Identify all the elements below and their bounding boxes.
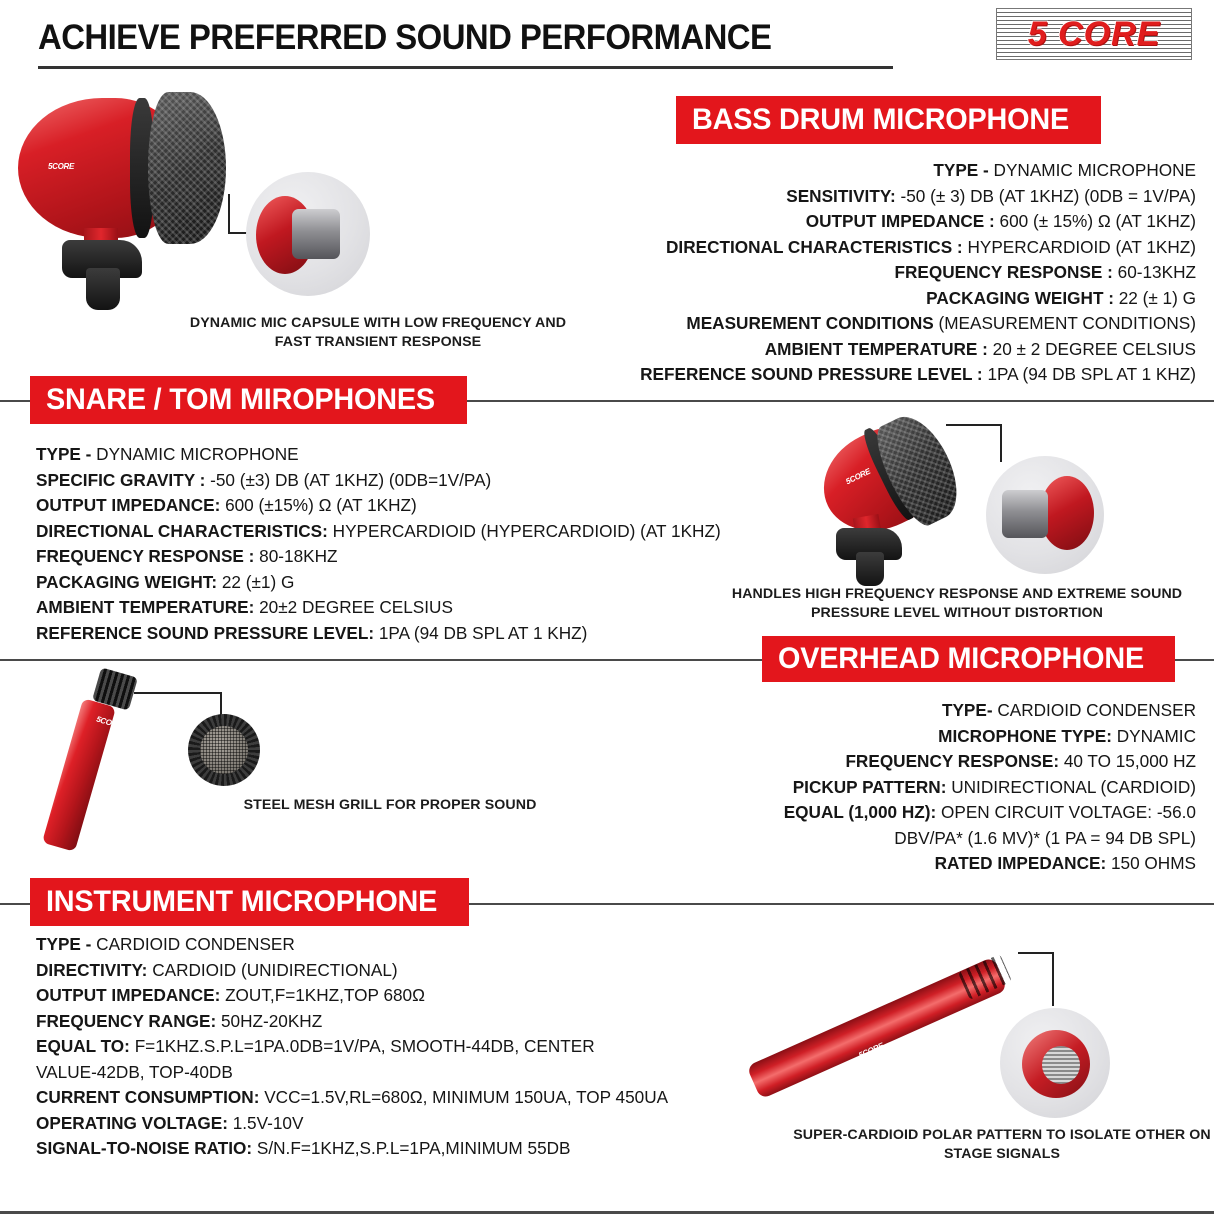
spec-value: HYPERCARDIOID (HYPERCARDIOID) (AT 1KHZ) [333,521,721,541]
spec-label: TYPE - [36,444,96,464]
spec-value: 22 (±1) G [222,572,294,592]
spec-label: PACKAGING WEIGHT: [36,572,222,592]
spec-label: DIRECTIONAL CHARACTERISTICS : [666,237,967,257]
spec-label: FREQUENCY RESPONSE : [894,262,1117,282]
spec-row: DBV/PA* (1.6 MV)* (1 PA = 94 DB SPL) [556,826,1196,852]
spec-label: EQUAL (1,000 HZ): [784,802,941,822]
spec-label: PACKAGING WEIGHT : [926,288,1119,308]
spec-row: TYPE - DYNAMIC MICROPHONE [456,158,1196,184]
spec-row: OUTPUT IMPEDANCE: 600 (±15%) Ω (AT 1KHZ) [36,493,776,519]
spec-row: REFERENCE SOUND PRESSURE LEVEL: 1PA (94 … [36,621,776,647]
spec-value: CARDIOID CONDENSER [96,934,295,954]
capsule-ring [1040,476,1094,550]
spec-value: 60-13KHZ [1118,262,1196,282]
capsule-core [292,209,340,259]
spec-value: 600 (± 15%) Ω (AT 1KHZ) [1000,211,1196,231]
banner-label: OVERHEAD MICROPHONE [778,642,1144,676]
caption-instrument: SUPER-CARDIOID POLAR PATTERN TO ISOLATE … [790,1126,1214,1164]
spec-value: 600 (±15%) Ω (AT 1KHZ) [225,495,417,515]
spec-row: SPECIFIC GRAVITY : -50 (±3) DB (AT 1KHZ)… [36,468,776,494]
spec-label: MICROPHONE TYPE: [938,726,1117,746]
spec-value: 50HZ-20KHZ [221,1011,322,1031]
caption-overhead: STEEL MESH GRILL FOR PROPER SOUND [180,796,600,815]
spec-value: UNIDIRECTIONAL (CARDIOID) [951,777,1196,797]
spec-row: DIRECTIONAL CHARACTERISTICS: HYPERCARDIO… [36,519,776,545]
infographic-page: ACHIEVE PREFERRED SOUND PERFORMANCE 5 CO… [0,0,1214,1214]
spec-value: 22 (± 1) G [1119,288,1196,308]
leader-line-h [1018,952,1054,954]
spec-value: 1PA (94 DB SPL AT 1 KHZ) [987,364,1196,384]
section-banner-overhead: OVERHEAD MICROPHONE [762,636,1175,682]
spec-value: HYPERCARDIOID (AT 1KHZ) [967,237,1196,257]
spec-row: FREQUENCY RESPONSE: 40 TO 15,000 HZ [556,749,1196,775]
caption-snare-tom: HANDLES HIGH FREQUENCY RESPONSE AND EXTR… [700,585,1214,623]
grill-mesh [200,726,248,774]
spec-row: OUTPUT IMPEDANCE: ZOUT,F=1KHZ,TOP 680Ω [36,983,656,1009]
spec-label: TYPE- [942,700,997,720]
spec-row: SIGNAL-TO-NOISE RATIO: S/N.F=1KHZ,S.P.L=… [36,1136,656,1162]
banner-label: INSTRUMENT MICROPHONE [46,885,437,919]
spec-row: FREQUENCY RANGE: 50HZ-20KHZ [36,1009,656,1035]
spec-label: RATED IMPEDANCE: [935,853,1111,873]
spec-value: 1PA (94 DB SPL AT 1 KHZ) [379,623,588,643]
spec-value: DYNAMIC [1117,726,1196,746]
caption-bass-drum: DYNAMIC MIC CAPSULE WITH LOW FREQUENCY A… [178,314,578,352]
mic-clip-stem [86,268,120,310]
spec-value: DBV/PA* (1.6 MV)* (1 PA = 94 DB SPL) [894,828,1196,848]
spec-value: DYNAMIC MICROPHONE [994,160,1196,180]
spec-row: REFERENCE SOUND PRESSURE LEVEL : 1PA (94… [456,362,1196,388]
spec-label: OUTPUT IMPEDANCE : [806,211,1000,231]
spec-value: -50 (± 3) DB (AT 1KHZ) (0DB = 1V/PA) [901,186,1196,206]
spec-list-instrument: TYPE - CARDIOID CONDENSERDIRECTIVITY: CA… [36,932,656,1162]
section-banner-instrument: INSTRUMENT MICROPHONE [30,878,469,926]
spec-label: FREQUENCY RESPONSE: [845,751,1063,771]
logo-text: 5 CORE [996,8,1192,60]
spec-row: AMBIENT TEMPERATURE: 20±2 DEGREE CELSIUS [36,595,776,621]
spec-row: SENSITIVITY: -50 (± 3) DB (AT 1KHZ) (0DB… [456,184,1196,210]
spec-row: MICROPHONE TYPE: DYNAMIC [556,724,1196,750]
spec-row: FREQUENCY RESPONSE : 60-13KHZ [456,260,1196,286]
spec-row: PACKAGING WEIGHT : 22 (± 1) G [456,286,1196,312]
spec-value: CARDIOID (UNIDIRECTIONAL) [152,960,397,980]
spec-value: ZOUT,F=1KHZ,TOP 680Ω [225,985,425,1005]
spec-value: DYNAMIC MICROPHONE [96,444,298,464]
spec-label: TYPE - [933,160,993,180]
capsule-core [1002,490,1048,538]
spec-label: OUTPUT IMPEDANCE: [36,495,225,515]
spec-label: TYPE - [36,934,96,954]
spec-list-snare-tom: TYPE - DYNAMIC MICROPHONESPECIFIC GRAVIT… [36,442,776,646]
leader-line-v [1052,952,1054,1006]
spec-row: OUTPUT IMPEDANCE : 600 (± 15%) Ω (AT 1KH… [456,209,1196,235]
spec-value: S/N.F=1KHZ,S.P.L=1PA,MINIMUM 55DB [257,1138,571,1158]
spec-label: SENSITIVITY: [786,186,900,206]
spec-label: DIRECTIONAL CHARACTERISTICS: [36,521,333,541]
spec-value: 1.5V-10V [233,1113,304,1133]
banner-label: SNARE / TOM MIROPHONES [46,383,435,417]
body-logo: 5CORE [48,162,74,171]
spec-row: CURRENT CONSUMPTION: VCC=1.5V,RL=680Ω, M… [36,1085,656,1111]
leader-line-v [228,194,230,234]
spec-value: VCC=1.5V,RL=680Ω, MINIMUM 150UA, TOP 450… [264,1087,668,1107]
spec-label: REFERENCE SOUND PRESSURE LEVEL : [640,364,987,384]
spec-value: 150 OHMS [1111,853,1196,873]
spec-label: FREQUENCY RESPONSE : [36,546,259,566]
leader-line-h [134,692,222,694]
leader-line-v [1000,424,1002,462]
spec-value: 20±2 DEGREE CELSIUS [259,597,453,617]
spec-label: SPECIFIC GRAVITY : [36,470,210,490]
condenser-mesh [1042,1046,1080,1084]
mic-grille [148,92,226,244]
spec-row: TYPE - DYNAMIC MICROPHONE [36,442,776,468]
spec-value: 20 ± 2 DEGREE CELSIUS [993,339,1196,359]
spec-row: OPERATING VOLTAGE: 1.5V-10V [36,1111,656,1137]
section-banner-snare-tom: SNARE / TOM MIROPHONES [30,376,467,424]
spec-label: MEASUREMENT CONDITIONS [686,313,938,333]
spec-row: PICKUP PATTERN: UNIDIRECTIONAL (CARDIOID… [556,775,1196,801]
spec-row: DIRECTIONAL CHARACTERISTICS : HYPERCARDI… [456,235,1196,261]
condenser-vents [958,954,1012,1000]
spec-value: 40 TO 15,000 HZ [1064,751,1196,771]
spec-label: OUTPUT IMPEDANCE: [36,985,225,1005]
spec-label: REFERENCE SOUND PRESSURE LEVEL: [36,623,379,643]
brand-logo: 5 CORE [996,8,1192,60]
spec-label: DIRECTIVITY: [36,960,152,980]
spec-label: SIGNAL-TO-NOISE RATIO: [36,1138,257,1158]
section-banner-bass-drum: BASS DRUM MICROPHONE [676,96,1101,144]
title-underline [38,66,893,69]
spec-row: FREQUENCY RESPONSE : 80-18KHZ [36,544,776,570]
spec-value: 80-18KHZ [259,546,337,566]
page-title: ACHIEVE PREFERRED SOUND PERFORMANCE [38,18,771,58]
spec-value: OPEN CIRCUIT VOLTAGE: -56.0 [941,802,1196,822]
spec-row: TYPE - CARDIOID CONDENSER [36,932,656,958]
spec-list-bass-drum: TYPE - DYNAMIC MICROPHONESENSITIVITY: -5… [456,158,1196,388]
spec-row: RATED IMPEDANCE: 150 OHMS [556,851,1196,877]
spec-label: CURRENT CONSUMPTION: [36,1087,264,1107]
spec-value: (MEASUREMENT CONDITIONS) [938,313,1196,333]
spec-label: PICKUP PATTERN: [793,777,952,797]
mic-clip-stem [856,552,884,586]
spec-row: DIRECTIVITY: CARDIOID (UNIDIRECTIONAL) [36,958,656,984]
spec-label: OPERATING VOLTAGE: [36,1113,233,1133]
spec-list-overhead: TYPE- CARDIOID CONDENSERMICROPHONE TYPE:… [556,698,1196,877]
spec-value: -50 (±3) DB (AT 1KHZ) (0DB=1V/PA) [210,470,491,490]
spec-row: EQUAL TO: F=1KHZ.S.P.L=1PA.0DB=1V/PA, SM… [36,1034,656,1085]
spec-label: EQUAL TO: [36,1036,135,1056]
leader-line-h [946,424,1002,426]
spec-label: FREQUENCY RANGE: [36,1011,221,1031]
banner-label: BASS DRUM MICROPHONE [692,103,1069,137]
spec-label: AMBIENT TEMPERATURE : [765,339,993,359]
spec-row: EQUAL (1,000 HZ): OPEN CIRCUIT VOLTAGE: … [556,800,1196,826]
spec-value: CARDIOID CONDENSER [997,700,1196,720]
spec-label: AMBIENT TEMPERATURE: [36,597,259,617]
spec-row: PACKAGING WEIGHT: 22 (±1) G [36,570,776,596]
spec-row: TYPE- CARDIOID CONDENSER [556,698,1196,724]
